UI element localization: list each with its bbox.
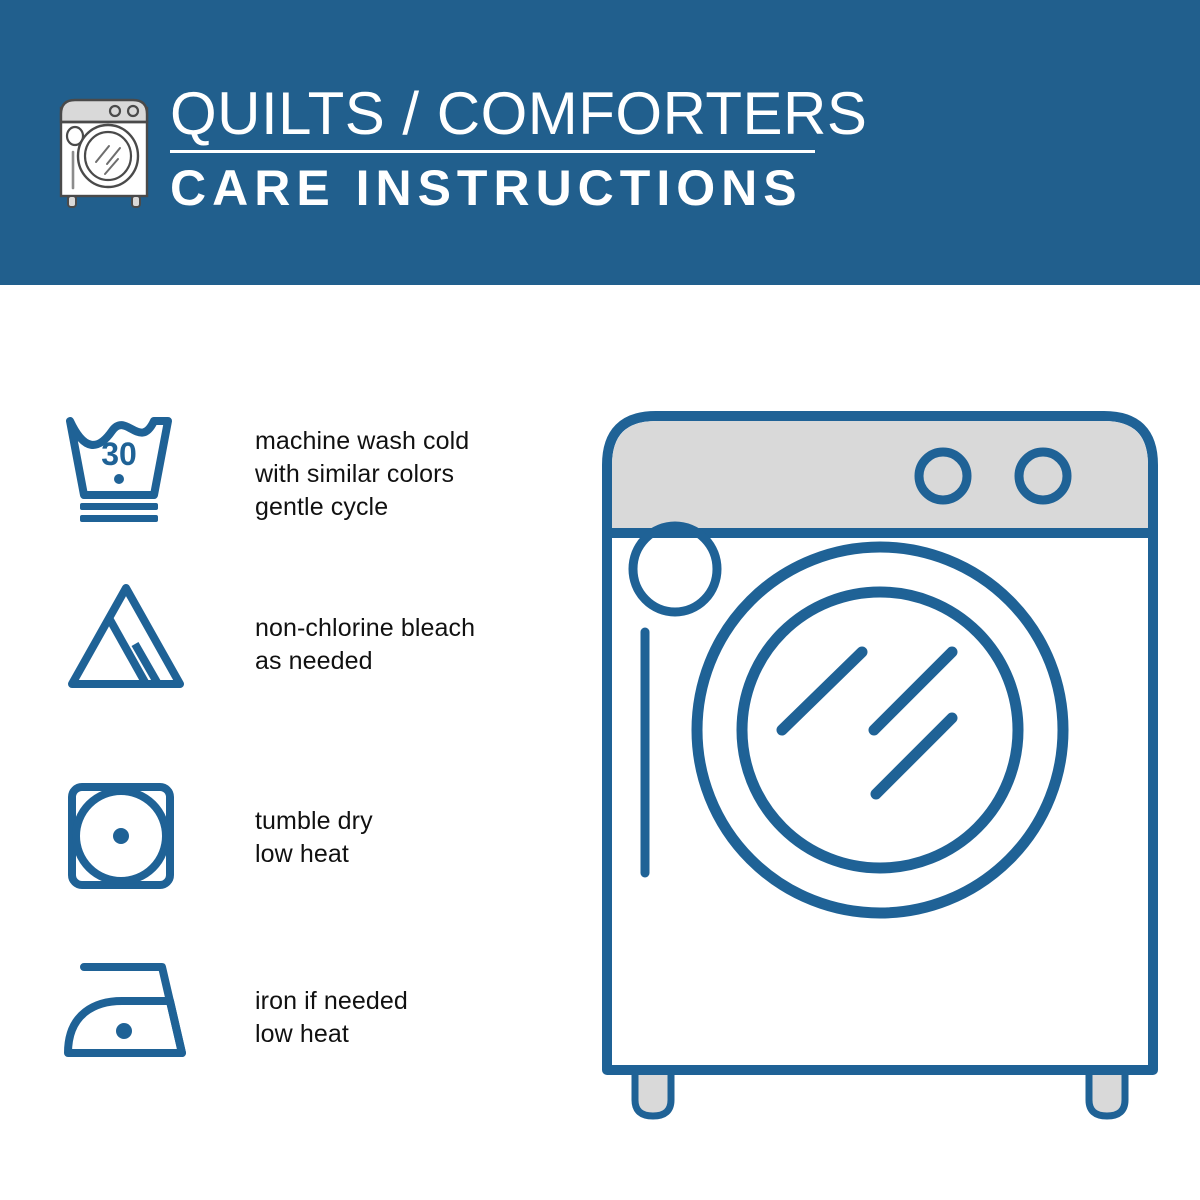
care-label-line: non-chlorine bleach	[255, 612, 475, 645]
care-label-bleach: non-chlorine bleach as needed	[255, 612, 475, 678]
tumble-dry-square-icon	[62, 780, 190, 897]
care-label-line: iron if needed	[255, 985, 408, 1018]
washing-machine-icon	[52, 80, 156, 208]
care-label-iron: iron if needed low heat	[255, 985, 408, 1051]
care-label-tumble-dry: tumble dry low heat	[255, 805, 373, 871]
care-label-line: tumble dry	[255, 805, 373, 838]
header-title-block: QUILTS / COMFORTERS CARE INSTRUCTIONS	[170, 82, 830, 215]
care-label-line: low heat	[255, 838, 373, 871]
wash-tub-30-icon: 30	[62, 413, 190, 530]
care-label-machine-wash: machine wash cold with similar colors ge…	[255, 425, 469, 524]
iron-icon	[62, 957, 202, 1067]
care-label-line: as needed	[255, 645, 475, 678]
washing-machine-illustration	[590, 400, 1170, 1130]
svg-text:30: 30	[101, 436, 137, 472]
care-label-line: gentle cycle	[255, 491, 469, 524]
care-instruction-list: 30 machine wash cold with similar colors…	[0, 285, 560, 1200]
care-label-line: machine wash cold	[255, 425, 469, 458]
care-label-line: low heat	[255, 1018, 408, 1051]
page-header: QUILTS / COMFORTERS CARE INSTRUCTIONS	[0, 0, 1200, 285]
page-subtitle: CARE INSTRUCTIONS	[170, 161, 830, 215]
care-label-line: with similar colors	[255, 458, 469, 491]
bleach-triangle-icon	[62, 580, 190, 697]
title-divider	[170, 150, 815, 153]
page-title: QUILTS / COMFORTERS	[170, 82, 830, 146]
